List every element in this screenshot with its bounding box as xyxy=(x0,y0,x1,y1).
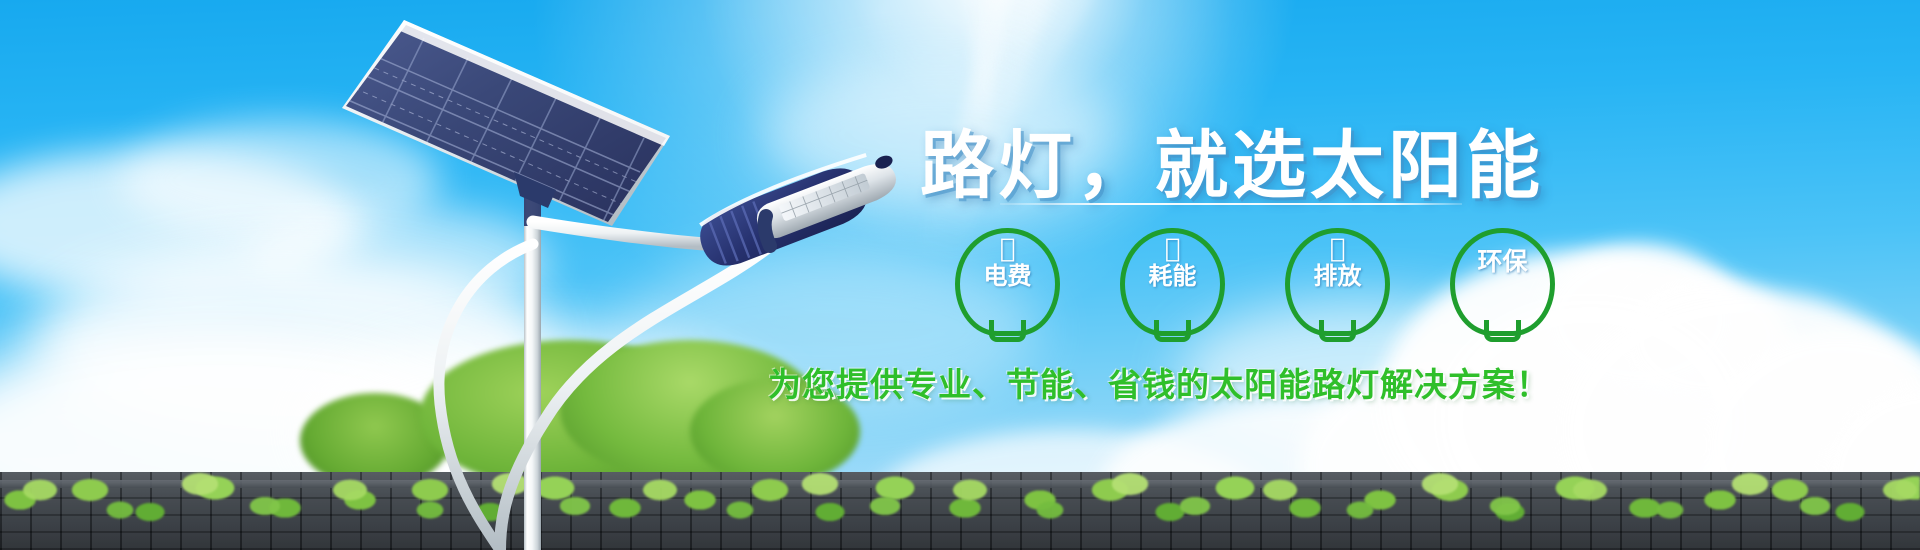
badge-label: 电费 xyxy=(982,264,1034,289)
badge-prefix:   xyxy=(1165,236,1181,262)
banner-content: 路灯，就选太阳能   电费   耗能   排放 xyxy=(0,0,1920,550)
lightbulb-base-icon xyxy=(1484,320,1521,342)
lightbulb-base-icon xyxy=(1319,320,1356,342)
banner-subtitle: 为您提供专业、节能、省钱的太阳能路灯解决方案！ xyxy=(768,358,1550,406)
lightbulb-base-icon xyxy=(1154,320,1191,342)
benefit-badge-emissions:   排放 xyxy=(1285,228,1390,336)
lightbulb-base-icon xyxy=(989,320,1026,342)
badge-label: 耗能 xyxy=(1147,264,1199,289)
benefit-badge-energy-consumption:   耗能 xyxy=(1120,228,1225,336)
badge-prefix:   xyxy=(1330,236,1346,262)
title-divider xyxy=(1000,203,1462,205)
benefit-badge-eco-friendly: 环保 xyxy=(1450,228,1555,336)
solar-street-lamp-banner: 路灯，就选太阳能   电费   耗能   排放 xyxy=(0,0,1920,550)
benefit-badge-list:   电费   耗能   排放 环保 xyxy=(955,228,1555,336)
benefit-badge-electricity-cost:   电费 xyxy=(955,228,1060,336)
badge-prefix:   xyxy=(1000,236,1016,262)
badge-label: 环保 xyxy=(1477,236,1529,276)
page-title: 路灯，就选太阳能 xyxy=(920,106,1544,213)
badge-label: 排放 xyxy=(1312,264,1364,289)
